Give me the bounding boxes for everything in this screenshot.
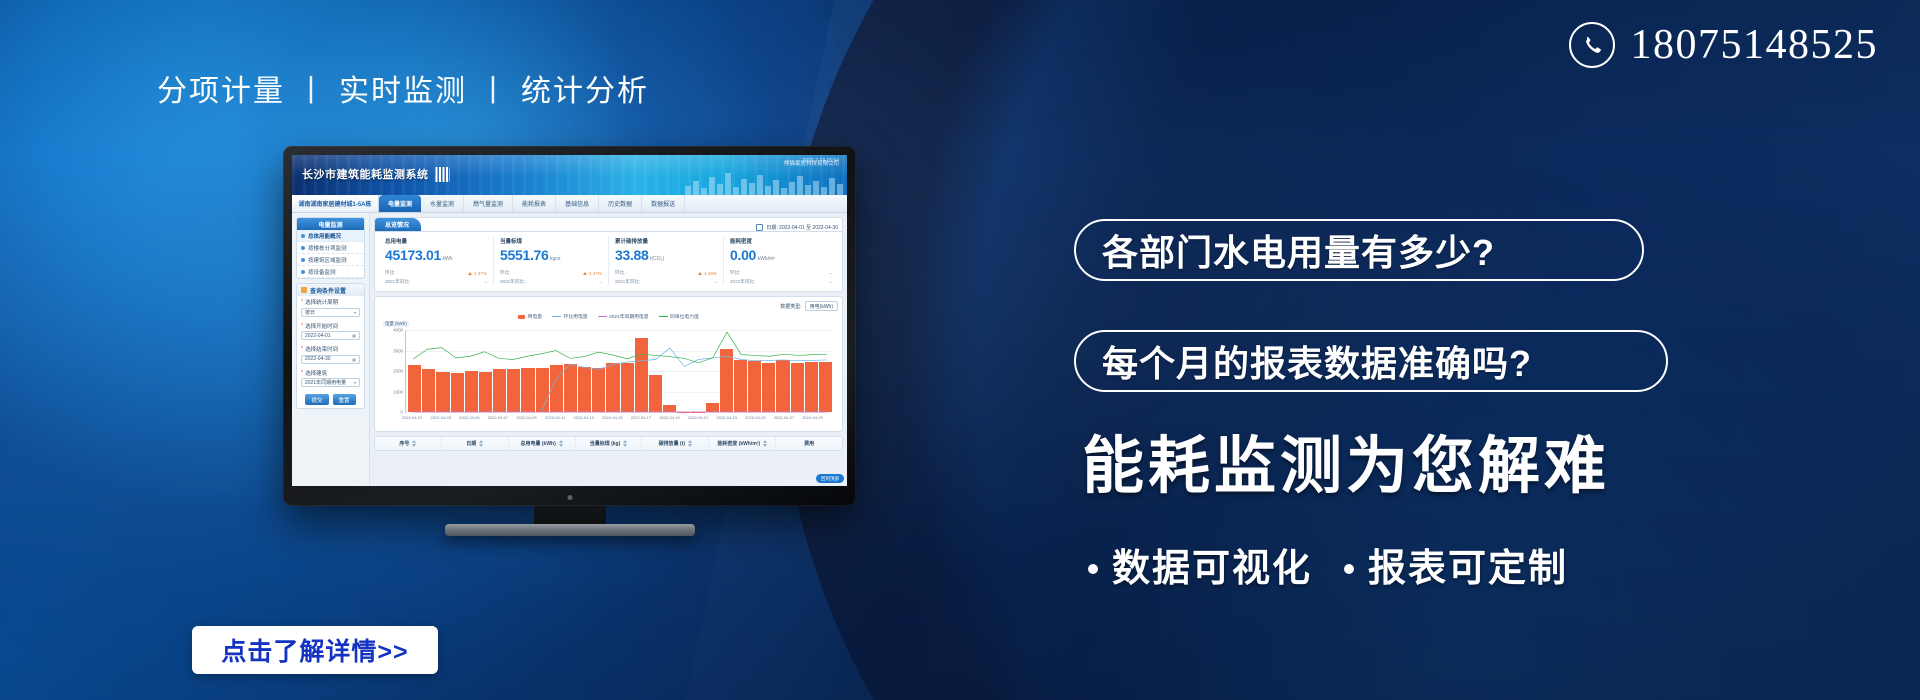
compare-label: 环比: — [500, 270, 510, 276]
chart-line-环比用电量 — [542, 348, 827, 411]
main-content: 总览情况 日期: 2022-04-01 至 2022-04-30 总用电量 45… — [370, 213, 847, 486]
y-tick-label: 4000 — [393, 328, 403, 333]
nav-building-selector[interactable]: 湖南湖南家居建材城1-5A栋 — [292, 195, 379, 212]
stat-value: 33.88t(CO₂) — [615, 248, 717, 267]
required-mark: * — [301, 323, 303, 329]
data-type-value: 用电(kWh) — [810, 303, 833, 310]
stat-value: 5551.76kgce — [500, 248, 602, 267]
sidebar-item-by-device[interactable]: 按设备监测 — [297, 266, 364, 278]
field-start-date: * 选择开始时间 2022-04-01 ▦ — [297, 320, 364, 344]
chevron-down-icon: ▾ — [354, 380, 356, 385]
field-building: * 选择建筑 2021年同期用电量 ▾ — [297, 367, 364, 391]
sort-icon — [763, 440, 767, 447]
stat-unit: kgce — [550, 256, 561, 262]
trend-up-icon — [698, 272, 702, 275]
banner-root: 18075148525 分项计量 丨 实时监测 丨 统计分析 各部门水电用量有多… — [0, 0, 1920, 700]
stat-yoy-row: 2021年同比: -- — [730, 279, 832, 285]
sort-icon — [688, 440, 692, 447]
stat-unit: kWh/m² — [758, 256, 775, 262]
x-tick-label: 2022-04-29 — [802, 415, 822, 420]
chart-lines — [406, 330, 834, 412]
stat-number: 33.88 — [615, 247, 649, 263]
tab-lishi-shuju[interactable]: 历史数据 — [599, 195, 642, 212]
chart-controls: 数据类型: 用电(kWh) — [379, 301, 838, 311]
stat-unit: kWh — [443, 256, 453, 262]
column-label: 序号 — [399, 440, 409, 447]
column-label: 日期 — [466, 440, 476, 447]
bullet-icon — [301, 270, 305, 274]
sidebar-menu-card: 电量监测 总体用能概况 按楼栋分项监测 按建筑区域监测 — [296, 217, 365, 279]
stat-unit: t(CO₂) — [650, 256, 664, 262]
feature-bullets: 数据可视化 报表可定制 — [1086, 545, 1568, 593]
x-tick-label: 2022-04-13 — [574, 415, 594, 420]
filter-title-text: 查询条件设置 — [310, 286, 346, 295]
tagline-part-2: 实时监测 — [339, 74, 467, 110]
compare-label: 环比: — [385, 270, 395, 276]
tagline-part-3: 统计分析 — [521, 74, 649, 110]
x-tick-label: 2022-04-01 — [402, 415, 422, 420]
question-pill-1: 各部门水电用量有多少? — [1074, 219, 1644, 281]
compare-value-wrap: 4.46% — [698, 271, 717, 276]
y-tick-label: 3000 — [393, 348, 403, 353]
monitor-mockup: 长沙市建筑能耗监测系统 2022-7-13 15:04 熊猫家居科技有限公司 湖… — [283, 146, 856, 506]
field-end-label: * 选择结束时间 — [301, 345, 360, 353]
tab-nenghao-baobiao[interactable]: 能耗报表 — [513, 195, 556, 212]
legend-swatch-icon — [598, 316, 607, 317]
stat-card-energy-density: 能耗密度 0.00kWh/m² 环比: -- 2021年同比: — [724, 237, 838, 285]
sort-icon — [412, 440, 416, 447]
calendar-icon: ▦ — [352, 333, 356, 338]
legend-label: 2021年同期用电量 — [609, 313, 648, 320]
y-tick-label: 2000 — [393, 369, 403, 374]
start-date-value: 2022-04-01 — [305, 333, 331, 339]
legend-label: 同单位电力值 — [670, 313, 699, 320]
monitor-power-led — [567, 495, 572, 500]
x-tick-label: 2022-04-27 — [774, 415, 794, 420]
tab-dianliang[interactable]: 电量监测 — [379, 195, 421, 212]
bullet-icon — [301, 234, 305, 238]
tagline-separator-1: 丨 — [296, 74, 328, 110]
chevron-down-icon: ▾ — [354, 310, 356, 315]
field-building-label: * 选择建筑 — [301, 369, 360, 377]
legend-label: 环比用电量 — [564, 313, 588, 320]
stat-number: 0.00 — [730, 247, 756, 263]
x-tick-label: 2022-04-21 — [688, 415, 708, 420]
yoy-value: -- — [599, 280, 602, 285]
compare-value: 4.46% — [704, 271, 717, 276]
period-select[interactable]: 按日 ▾ — [301, 308, 360, 317]
date-range-text: 日期: 2022-04-01 至 2022-04-30 — [766, 224, 838, 231]
legend-item-ring[interactable]: 环比用电量 — [552, 313, 588, 320]
column-label: 总用电量 (kWh) — [521, 440, 556, 447]
legend-swatch-icon — [659, 316, 668, 317]
table-col-index[interactable]: 序号 — [375, 437, 442, 450]
legend-item-unit[interactable]: 同单位电力值 — [659, 313, 699, 320]
y-tick-label: 0 — [401, 410, 403, 415]
tab-jichu-xinxi[interactable]: 基础信息 — [556, 195, 599, 212]
yoy-label: 2021年同比: — [615, 279, 640, 285]
tab-shuiliang[interactable]: 水量监测 — [421, 195, 464, 212]
sidebar-item-label: 按楼栋分项监测 — [308, 244, 347, 252]
required-mark: * — [301, 299, 303, 305]
stat-yoy-row: 2021年同比: -- — [615, 279, 717, 285]
submit-button[interactable]: 提交 — [305, 394, 328, 405]
stat-card-total-electricity: 总用电量 45173.01kWh 环比: 4.47% — [379, 237, 494, 285]
bullet-label-1: 数据可视化 — [1112, 545, 1312, 593]
monitor-stand-base — [445, 524, 695, 536]
stat-label: 能耗密度 — [730, 237, 832, 245]
chart-panel: 数据类型: 用电(kWh) 用电量 环比用电量 2021年同期用电量 同单位电力… — [374, 296, 843, 432]
x-tick-label: 2022-04-23 — [717, 415, 737, 420]
column-label: 能耗密度 (kWh/m²) — [717, 440, 760, 447]
tagline-separator-2: 丨 — [478, 74, 510, 110]
x-tick-label: 2022-04-03 — [431, 415, 451, 420]
column-label: 当量标煤 (kg) — [590, 440, 621, 447]
x-tick-label: 2022-04-15 — [602, 415, 622, 420]
funnel-icon — [301, 287, 307, 293]
stat-number: 45173.01 — [385, 247, 441, 263]
x-tick-label: 2022-04-07 — [488, 415, 508, 420]
field-start-label: * 选择开始时间 — [301, 322, 360, 330]
app-nav: 湖南湖南家居建材城1-5A栋 电量监测 水量监测 燃气量监测 能耗报表 基础信息… — [292, 195, 847, 213]
question-pill-2: 每个月的报表数据准确吗? — [1074, 330, 1668, 392]
stat-compare-row: 环比: 4.47% — [385, 270, 487, 276]
bullet-label-2: 报表可定制 — [1368, 545, 1568, 593]
sidebar-item-label: 按设备监测 — [308, 268, 336, 276]
city-skyline-graphic — [685, 173, 843, 195]
sort-icon — [559, 440, 563, 447]
stat-label: 当量标煤 — [500, 237, 602, 245]
y-axis-label: 电量 (kWh) — [383, 321, 409, 327]
end-date-input[interactable]: 2022-04-30 ▦ — [301, 355, 360, 364]
legend-label: 用电量 — [528, 313, 542, 320]
cta-button[interactable]: 点击了解详情>> — [192, 626, 438, 674]
sidebar-item-overview[interactable]: 总体用能概况 — [297, 230, 364, 242]
bullet-dot-icon-1 — [1088, 564, 1098, 574]
field-label-text: 选择建筑 — [305, 369, 327, 377]
app-user-name: 熊猫家居科技有限公司 — [784, 161, 839, 167]
field-label-text: 选择统计周期 — [305, 298, 338, 306]
data-type-label: 数据类型: — [780, 303, 801, 310]
building-select[interactable]: 2021年同期用电量 ▾ — [301, 378, 360, 387]
stat-yoy-row: 2021年同比: -- — [500, 279, 602, 285]
data-table-header: 序号 日期 总用电量 (kWh) 当量标煤 (kg) 碳排放量 (t) 能耗密度… — [374, 436, 843, 451]
y-tick-label: 1000 — [393, 389, 403, 394]
tagline-part-1: 分项计量 — [157, 74, 285, 110]
end-date-value: 2022-04-30 — [305, 356, 331, 362]
compare-value-wrap: 4.47% — [468, 271, 487, 276]
field-label-text: 选择结束时间 — [305, 345, 338, 353]
compare-value: 4.47% — [589, 271, 602, 276]
yoy-value: -- — [484, 280, 487, 285]
legend-swatch-icon — [518, 315, 525, 319]
phone-circle-icon — [1569, 22, 1615, 68]
stat-compare-row: 环比: 4.47% — [500, 270, 602, 276]
trend-up-icon — [468, 272, 472, 275]
field-label-text: 选择开始时间 — [305, 322, 338, 330]
date-range: 日期: 2022-04-01 至 2022-04-30 — [756, 224, 842, 231]
sidebar-item-by-building[interactable]: 按楼栋分项监测 — [297, 242, 364, 254]
bullet-dot-icon-2 — [1344, 564, 1354, 574]
overview-panel: 总览情况 日期: 2022-04-01 至 2022-04-30 总用电量 45… — [374, 217, 843, 292]
yoy-value: -- — [829, 280, 832, 285]
x-tick-label: 2022-04-09 — [516, 415, 536, 420]
stat-value: 45173.01kWh — [385, 248, 487, 267]
app-title-text: 长沙市建筑能耗监测系统 — [302, 166, 429, 182]
field-period-label: * 选择统计周期 — [301, 298, 360, 306]
trend-up-icon — [583, 272, 587, 275]
sort-icon — [479, 440, 483, 447]
filter-title: 查询条件设置 — [297, 284, 364, 296]
headline: 能耗监测为您解难 — [1082, 432, 1610, 502]
filter-card: 查询条件设置 * 选择统计周期 按日 ▾ — [296, 283, 365, 409]
app-title: 长沙市建筑能耗监测系统 — [302, 166, 450, 182]
tab-ranqi[interactable]: 燃气量监测 — [464, 195, 513, 212]
panel-tab-overview[interactable]: 总览情况 — [375, 218, 421, 231]
sort-icon — [623, 440, 627, 447]
stat-label: 总用电量 — [385, 237, 487, 245]
sidebar: 电量监测 总体用能概况 按楼栋分项监测 按建筑区域监测 — [292, 213, 370, 486]
x-axis-ticks: 2022-04-012022-04-032022-04-052022-04-07… — [405, 415, 834, 425]
x-tick-label: 2022-04-17 — [631, 415, 651, 420]
x-tick-label: 2022-04-25 — [745, 415, 765, 420]
yoy-value: -- — [714, 280, 717, 285]
data-type-select[interactable]: 用电(kWh) — [805, 301, 838, 311]
yoy-label: 2021年同比: — [385, 279, 410, 285]
table-col-carbon[interactable]: 碳排放量 (t) — [642, 437, 709, 450]
table-col-date[interactable]: 日期 — [442, 437, 509, 450]
period-value: 按日 — [305, 309, 315, 316]
monitor-screen: 长沙市建筑能耗监测系统 2022-7-13 15:04 熊猫家居科技有限公司 湖… — [292, 155, 847, 486]
chart-legend: 用电量 环比用电量 2021年同期用电量 同单位电力值 — [379, 313, 838, 320]
tagline: 分项计量 丨 实时监测 丨 统计分析 — [157, 74, 649, 110]
sidebar-title: 电量监测 — [297, 218, 364, 230]
sidebar-item-by-zone[interactable]: 按建筑区域监测 — [297, 254, 364, 266]
legend-item-usage[interactable]: 用电量 — [518, 313, 542, 320]
chart-line-同单位电力值 — [413, 332, 827, 363]
filter-actions: 提交 重置 — [297, 390, 364, 408]
stat-label: 累计碳排放量 — [615, 237, 717, 245]
bullet-icon — [301, 258, 305, 262]
x-tick-label: 2022-04-11 — [545, 415, 565, 420]
field-period: * 选择统计周期 按日 ▾ — [297, 296, 364, 320]
yoy-label: 2021年同比: — [500, 279, 525, 285]
bullet-icon — [301, 246, 305, 250]
nav-tabs: 电量监测 水量监测 燃气量监测 能耗报表 基础信息 历史数据 数据报送 — [379, 195, 847, 212]
column-label: 费用 — [804, 440, 814, 447]
compare-value: 4.47% — [474, 271, 487, 276]
calendar-icon: ▦ — [352, 357, 356, 362]
compare-label: 环比: — [730, 270, 740, 276]
stat-compare-row: 环比: -- — [730, 270, 832, 276]
legend-item-yoy[interactable]: 2021年同期用电量 — [598, 313, 649, 320]
calendar-icon — [756, 224, 763, 231]
stat-card-carbon-emission: 累计碳排放量 33.88t(CO₂) 环比: 4.46% — [609, 237, 724, 285]
energy-bar-chart: 电量 (kWh) 01000200030004000 2022-04-01202… — [379, 322, 838, 427]
stat-cards: 总用电量 45173.01kWh 环比: 4.47% — [375, 232, 842, 291]
start-date-input[interactable]: 2022-04-01 ▦ — [301, 331, 360, 340]
table-col-total[interactable]: 总用电量 (kWh) — [509, 437, 576, 450]
yoy-label: 2021年同比: — [730, 279, 755, 285]
table-col-coal[interactable]: 当量标煤 (kg) — [576, 437, 643, 450]
required-mark: * — [301, 370, 303, 376]
compare-value: -- — [829, 271, 832, 276]
building-value: 2021年同期用电量 — [305, 379, 346, 386]
required-mark: * — [301, 346, 303, 352]
stat-card-coal-equivalent: 当量标煤 5551.76kgce 环比: 4.47% — [494, 237, 609, 285]
monitor-stand-neck — [534, 504, 606, 526]
back-to-top-button[interactable]: 回到顶部 — [816, 474, 844, 483]
stat-yoy-row: 2021年同比: -- — [385, 279, 487, 285]
compare-value-wrap: 4.47% — [583, 271, 602, 276]
reset-button[interactable]: 重置 — [333, 394, 356, 405]
building-icon — [434, 167, 450, 182]
stat-number: 5551.76 — [500, 247, 549, 263]
sidebar-item-label: 总体用能概况 — [308, 232, 341, 240]
stat-value: 0.00kWh/m² — [730, 248, 832, 267]
legend-swatch-icon — [552, 316, 561, 317]
tab-shuju-baosong[interactable]: 数据报送 — [642, 195, 685, 212]
x-tick-label: 2022-04-05 — [459, 415, 479, 420]
app-body: 电量监测 总体用能概况 按楼栋分项监测 按建筑区域监测 — [292, 213, 847, 486]
phone-number: 18075148525 — [1631, 24, 1879, 66]
phone-contact[interactable]: 18075148525 — [1569, 22, 1879, 68]
panel-tab-row: 总览情况 日期: 2022-04-01 至 2022-04-30 — [375, 218, 842, 232]
x-tick-label: 2022-04-19 — [659, 415, 679, 420]
app-user: 熊猫家居科技有限公司 — [784, 160, 839, 168]
table-col-density[interactable]: 能耗密度 (kWh/m²) — [709, 437, 776, 450]
chart-plot-area: 01000200030004000 — [405, 330, 834, 413]
sidebar-item-label: 按建筑区域监测 — [308, 256, 347, 264]
field-end-date: * 选择结束时间 2022-04-30 ▦ — [297, 343, 364, 367]
column-label: 碳排放量 (t) — [659, 440, 685, 447]
app-header: 长沙市建筑能耗监测系统 2022-7-13 15:04 熊猫家居科技有限公司 — [292, 155, 847, 195]
table-col-fee[interactable]: 费用 — [776, 437, 842, 450]
compare-label: 环比: — [615, 270, 625, 276]
stat-compare-row: 环比: 4.46% — [615, 270, 717, 276]
